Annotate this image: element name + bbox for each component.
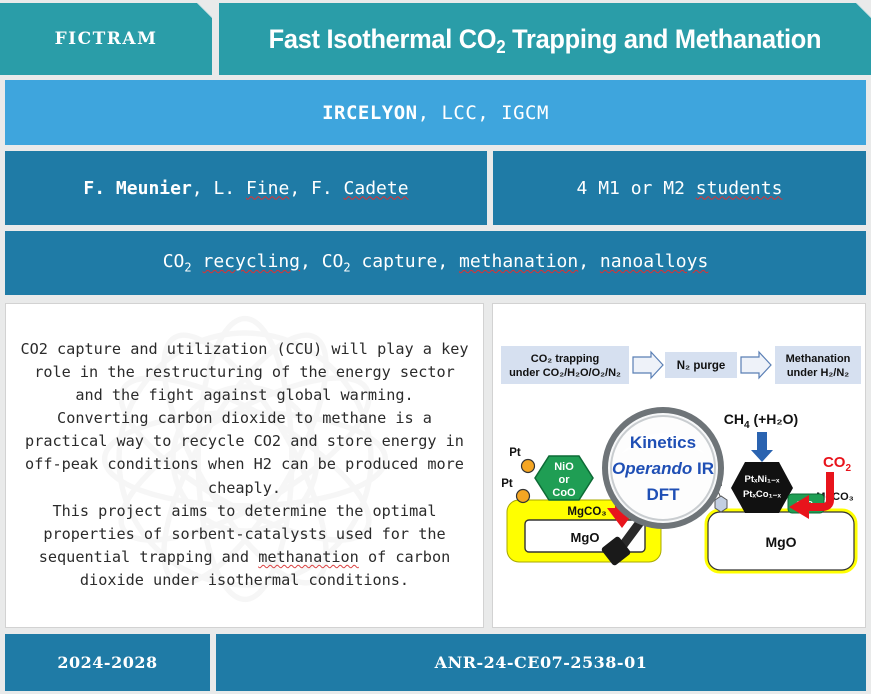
right-nm-dot [715,496,727,512]
title-tab: Fast Isothermal CO2 Trapping and Methana… [219,3,871,75]
keywords-label: CO2 recycling, CO2 capture, methanation,… [163,251,709,275]
acronym-tab: FICTRAM [0,3,212,75]
flow-step-1-line1: CO₂ trapping [531,353,599,365]
right-hex-line2: PtₓCo₁₋ₓ [743,489,782,500]
title-fold-corner-icon [856,3,871,18]
investigators-label: F. Meunier, L. Fine, F. Cadete [83,178,408,199]
left-hex-line2: or [559,474,571,486]
right-mgo-label: MgO [765,534,796,550]
left-hex-line1: NiO [554,461,574,473]
right-hex-line1: PtₓNi₁₋ₓ [745,474,780,485]
project-period-label: 2024-2028 [57,653,157,672]
header: FICTRAM Fast Isothermal CO2 Trapping and… [0,3,871,75]
left-pt-label-bottom: Pt [501,478,513,490]
magnifier-line-3: DFT [646,485,680,504]
grant-number-box: ANR-24-CE07-2538-01 [216,634,866,691]
flow-step-2-label: N₂ purge [677,360,726,372]
right-co2-label: CO2 [823,454,852,474]
right-product-label: CH4 (+H₂O) [724,411,798,431]
acronym-label: FICTRAM [55,29,158,49]
abstract-text: CO2 capture and utilization (CCU) will p… [6,304,483,592]
flow-arrow-2-icon [741,352,771,378]
right-alloy-hexagon [731,462,793,513]
diagram-panel: CO₂ trapping under CO₂/H₂O/O₂/N₂ N₂ purg… [492,303,866,628]
students-box: 4 M1 or M2 students [493,151,866,225]
flow-step-3-line1: Methanation [786,353,851,365]
abstract-paragraph-3: This project aims to determine the optim… [20,500,469,592]
right-ch4-arrow-icon [751,432,773,462]
project-period-box: 2024-2028 [5,634,210,691]
left-mgco3-label: MgCO₃ [567,506,606,518]
footer: 2024-2028 ANR-24-CE07-2538-01 [5,634,866,691]
flow-arrow-1-icon [633,352,663,378]
left-hex-line3: CoO [552,487,576,499]
magnifier-line-1: Kinetics [630,433,696,452]
left-pt-dot-top [522,460,535,473]
poster-root: FICTRAM Fast Isothermal CO2 Trapping and… [0,0,871,694]
magnifier-line-2: Operando IR [612,459,714,478]
flow-step-3-line2: under H₂/N₂ [787,367,849,379]
process-diagram: CO₂ trapping under CO₂/H₂O/O₂/N₂ N₂ purg… [493,304,866,628]
grant-number-label: ANR-24-CE07-2538-01 [435,653,648,672]
keywords-bar: CO2 recycling, CO2 capture, methanation,… [5,231,866,295]
investigators-box: F. Meunier, L. Fine, F. Cadete [5,151,487,225]
laboratories-bar: IRCELYON, LCC, IGCM [5,80,866,145]
abstract-panel: CO2 capture and utilization (CCU) will p… [5,303,484,628]
page-title: Fast Isothermal CO2 Trapping and Methana… [269,24,822,55]
abstract-paragraph-2: Converting carbon dioxide to methane is … [20,407,469,499]
students-label: 4 M1 or M2 students [577,178,783,199]
people-row: F. Meunier, L. Fine, F. Cadete 4 M1 or M… [5,151,866,225]
abstract-paragraph-1: CO2 capture and utilization (CCU) will p… [20,338,469,407]
tab-fold-corner-icon [197,3,212,18]
left-mgo-label: MgO [571,530,600,545]
left-pt-dot-bottom [517,490,530,503]
flow-step-1-line2: under CO₂/H₂O/O₂/N₂ [509,367,621,379]
left-pt-label-top: Pt [509,447,521,459]
laboratories-label: IRCELYON, LCC, IGCM [322,102,549,124]
